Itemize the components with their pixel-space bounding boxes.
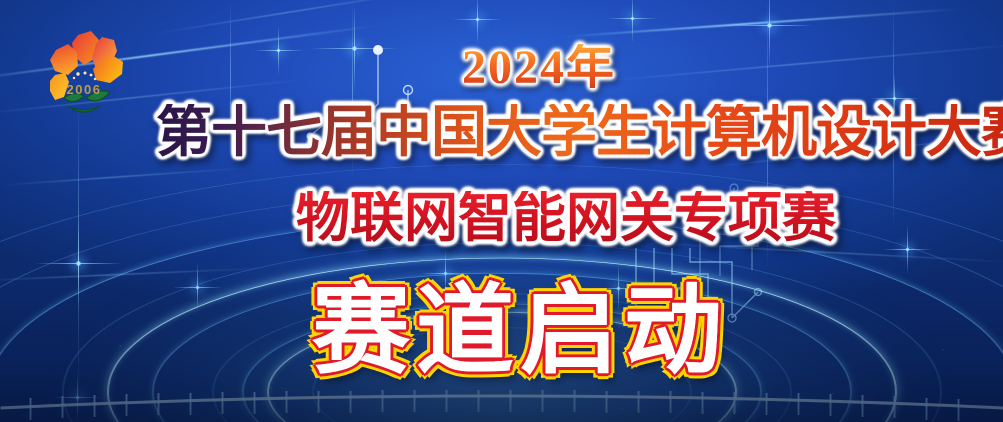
- competition-banner: 2006 2024年 第十七届中国大学生计算机设计大赛 物联网智能网关专项赛 赛…: [0, 0, 1003, 422]
- slogan-track-launch: 赛道启动: [312, 281, 728, 379]
- main-title: 第十七届中国大学生计算机设计大赛: [156, 104, 1003, 160]
- glow-star: [276, 48, 281, 53]
- glow-star: [475, 17, 480, 22]
- subtitle-track-name: 物联网智能网关专项赛: [296, 191, 836, 245]
- glow-star: [351, 45, 358, 52]
- glow-star: [766, 22, 773, 29]
- competition-logo: 2006: [28, 18, 140, 130]
- year-heading: 2024年: [462, 44, 616, 92]
- logo-year-mark: 2006: [67, 82, 102, 97]
- glow-star: [630, 16, 635, 21]
